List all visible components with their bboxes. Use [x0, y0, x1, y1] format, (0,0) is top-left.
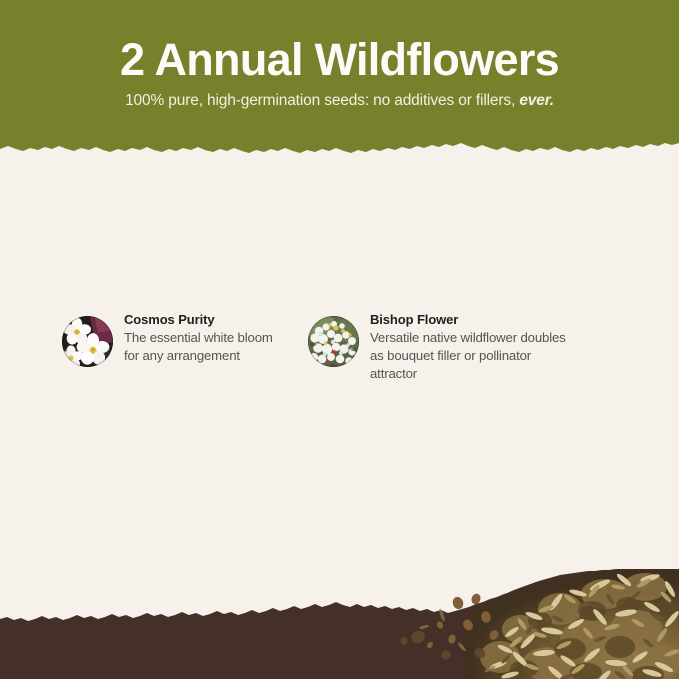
- header-banner: 2 Annual Wildflowers 100% pure, high-ger…: [0, 0, 679, 156]
- product-infographic: 2 Annual Wildflowers 100% pure, high-ger…: [0, 0, 679, 679]
- list-item: Cosmos Purity The essential white bloom …: [0, 300, 285, 367]
- banner-text-block: 2 Annual Wildflowers 100% pure, high-ger…: [0, 0, 679, 140]
- list-item: Bishop Flower Versatile native wildflowe…: [285, 300, 575, 383]
- subtitle-emphasis-text: ever.: [519, 92, 554, 109]
- page-title: 2 Annual Wildflowers: [0, 0, 679, 86]
- feature-name: Bishop Flower: [370, 311, 575, 329]
- feature-name: Cosmos Purity: [124, 311, 285, 329]
- subtitle-plain-text: 100% pure, high-germination seeds: no ad…: [125, 92, 519, 109]
- feature-text-block: Cosmos Purity The essential white bloom …: [113, 300, 285, 365]
- feature-description: Versatile native wildflower doubles as b…: [370, 329, 575, 383]
- bishop-flower-photo-icon: [308, 316, 359, 367]
- footer-band: [0, 569, 679, 679]
- feature-description: The essential white bloom for any arrang…: [124, 329, 285, 365]
- feature-text-block: Bishop Flower Versatile native wildflowe…: [359, 300, 575, 383]
- page-subtitle: 100% pure, high-germination seeds: no ad…: [0, 86, 679, 111]
- feature-list: Cosmos Purity The essential white bloom …: [0, 300, 679, 383]
- cosmos-purity-photo-icon: [62, 316, 113, 367]
